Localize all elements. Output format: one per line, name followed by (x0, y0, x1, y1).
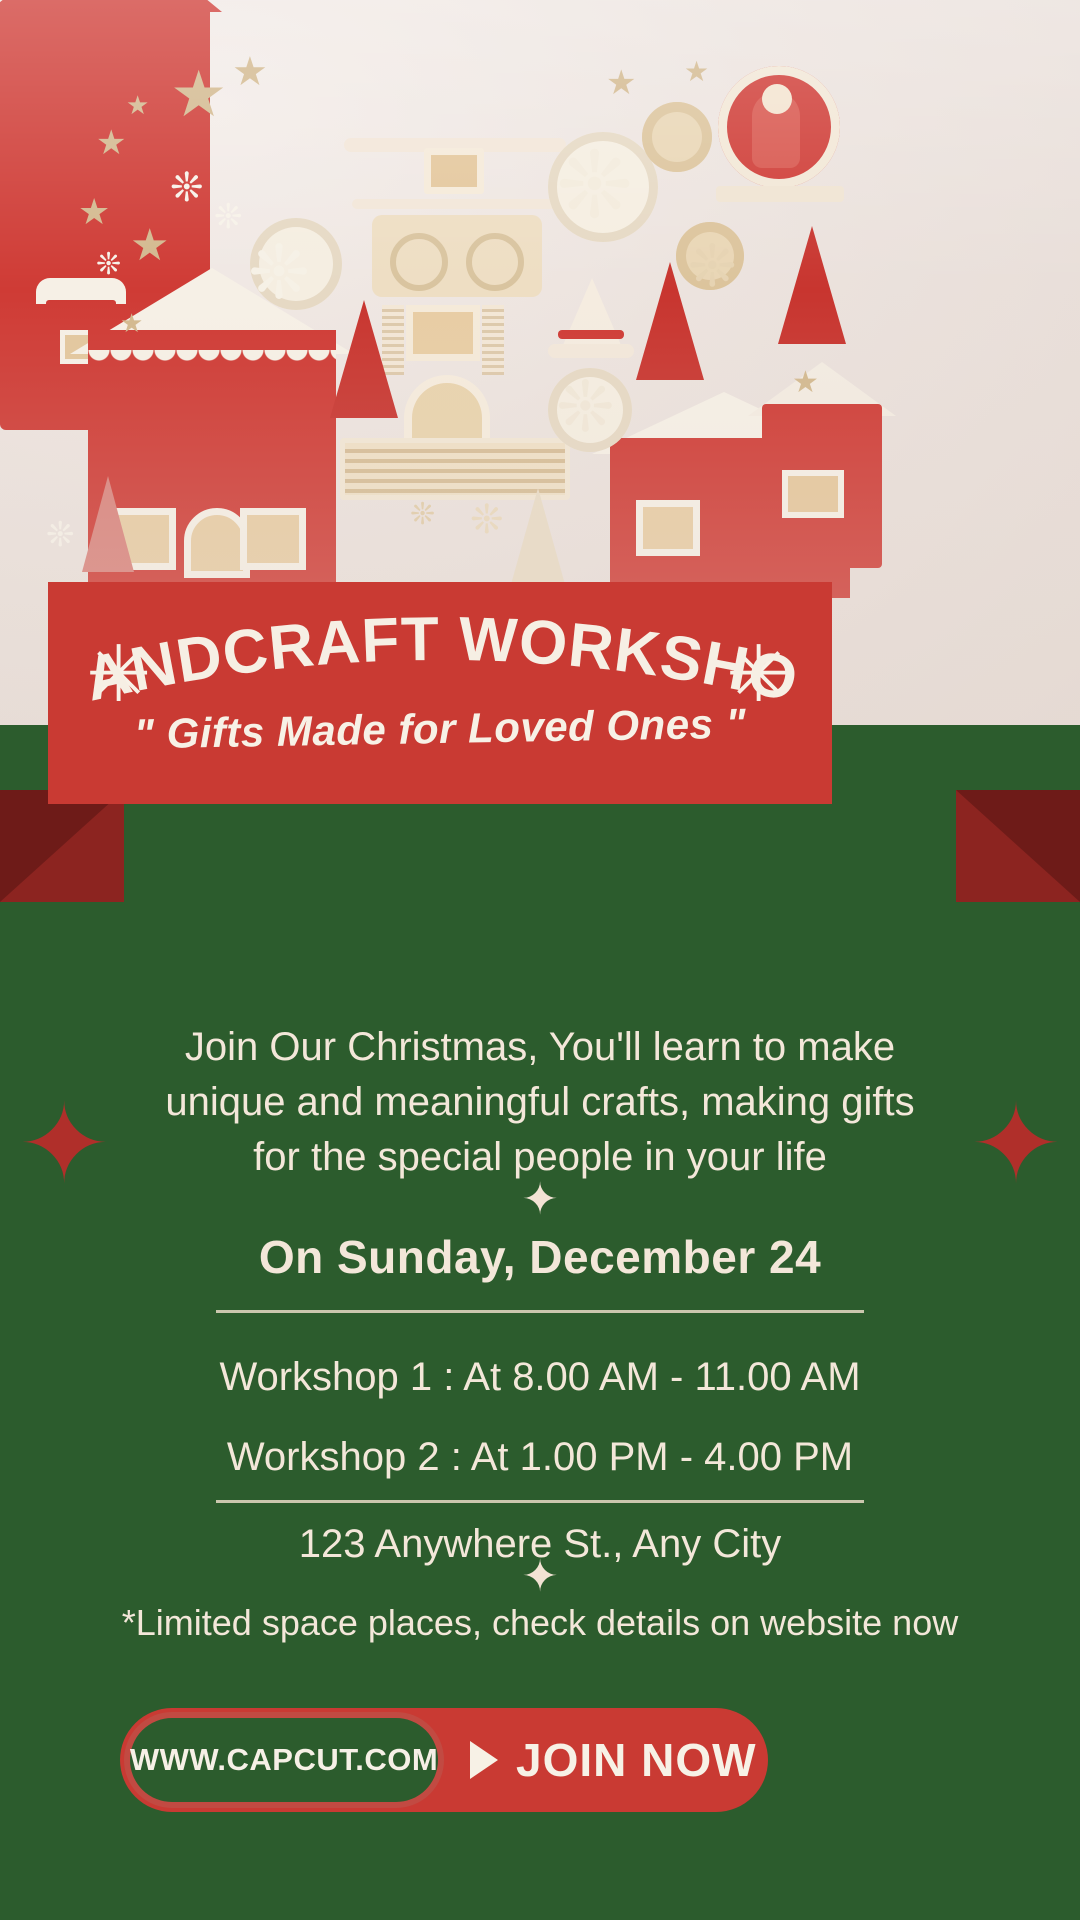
join-now-button[interactable]: JOIN NOW (470, 1712, 770, 1808)
poster-root: ★ ★ ★ ★ ★ ★ ★ ★ ★ ★ ❊ ❊ ❊ ❊ ❊ ❊ ❊ ❊ ❊ ❊ … (0, 0, 1080, 1920)
limited-space-note: *Limited space places, check details on … (0, 1602, 1080, 1644)
event-date: On Sunday, December 24 (0, 1230, 1080, 1284)
workshop-slot-1: Workshop 1 : At 8.00 AM - 11.00 AM (0, 1355, 1080, 1400)
sparkle-divider-icon-2: ✦ (0, 1555, 1080, 1599)
divider-bottom (216, 1500, 864, 1503)
join-now-label: JOIN NOW (516, 1733, 757, 1787)
description-line-2: unique and meaningful crafts, making gif… (120, 1075, 960, 1130)
divider-top (216, 1310, 864, 1313)
sparkle-divider-icon-1: ✦ (0, 1178, 1080, 1222)
play-triangle-icon (470, 1741, 498, 1779)
description-line-1: Join Our Christmas, You'll learn to make (120, 1020, 960, 1075)
website-url-button[interactable]: WWW.CAPCUT.COM (124, 1712, 444, 1808)
description-block: Join Our Christmas, You'll learn to make… (120, 1020, 960, 1186)
workshop-slot-2: Workshop 2 : At 1.00 PM - 4.00 PM (0, 1435, 1080, 1480)
